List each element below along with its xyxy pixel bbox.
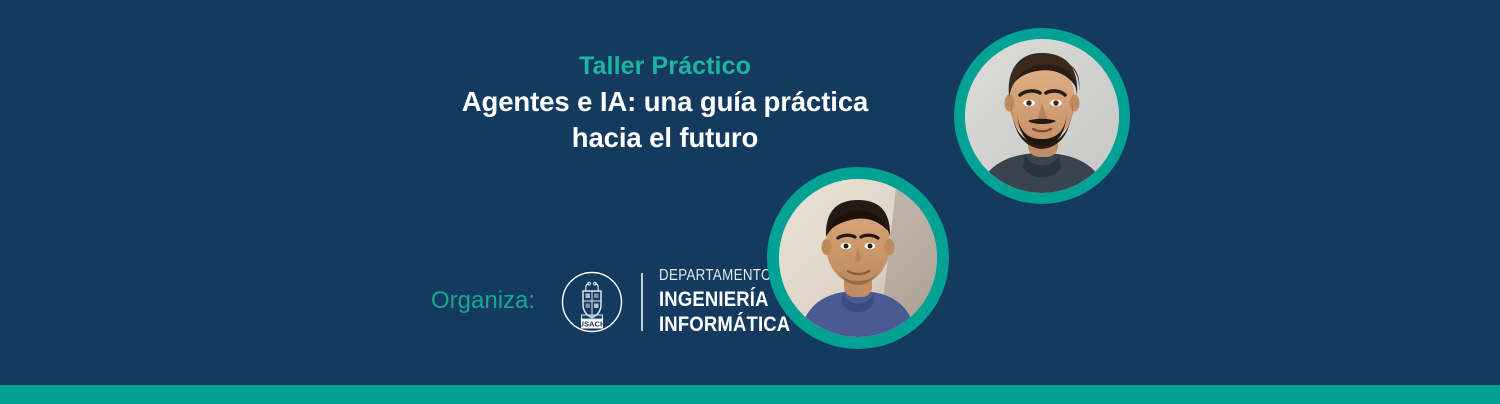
event-eyebrow: Taller Práctico <box>400 52 930 81</box>
logo-divider <box>641 273 643 331</box>
title-block: Taller Práctico Agentes e IA: una guía p… <box>400 52 930 156</box>
organizer-row: Organiza: <box>431 268 817 336</box>
department-line-3: INFORMÁTICA <box>659 314 795 336</box>
speaker-photo-bottom <box>767 167 949 349</box>
organizer-label: Organiza: <box>431 289 535 315</box>
headline-line-1: Agentes e IA: una guía práctica <box>400 84 930 120</box>
speaker-photo-top-image <box>965 39 1119 193</box>
usach-crest-icon: USACH <box>561 271 623 333</box>
headline-line-2: hacia el futuro <box>400 120 930 156</box>
speaker-photo-bottom-image <box>779 179 937 337</box>
usach-crest-text: USACH <box>579 319 606 328</box>
speaker-photo-top <box>954 28 1130 204</box>
event-banner: Taller Práctico Agentes e IA: una guía p… <box>0 0 1500 404</box>
bottom-accent-bar <box>0 385 1500 404</box>
page-title: Agentes e IA: una guía práctica hacia el… <box>400 84 930 157</box>
